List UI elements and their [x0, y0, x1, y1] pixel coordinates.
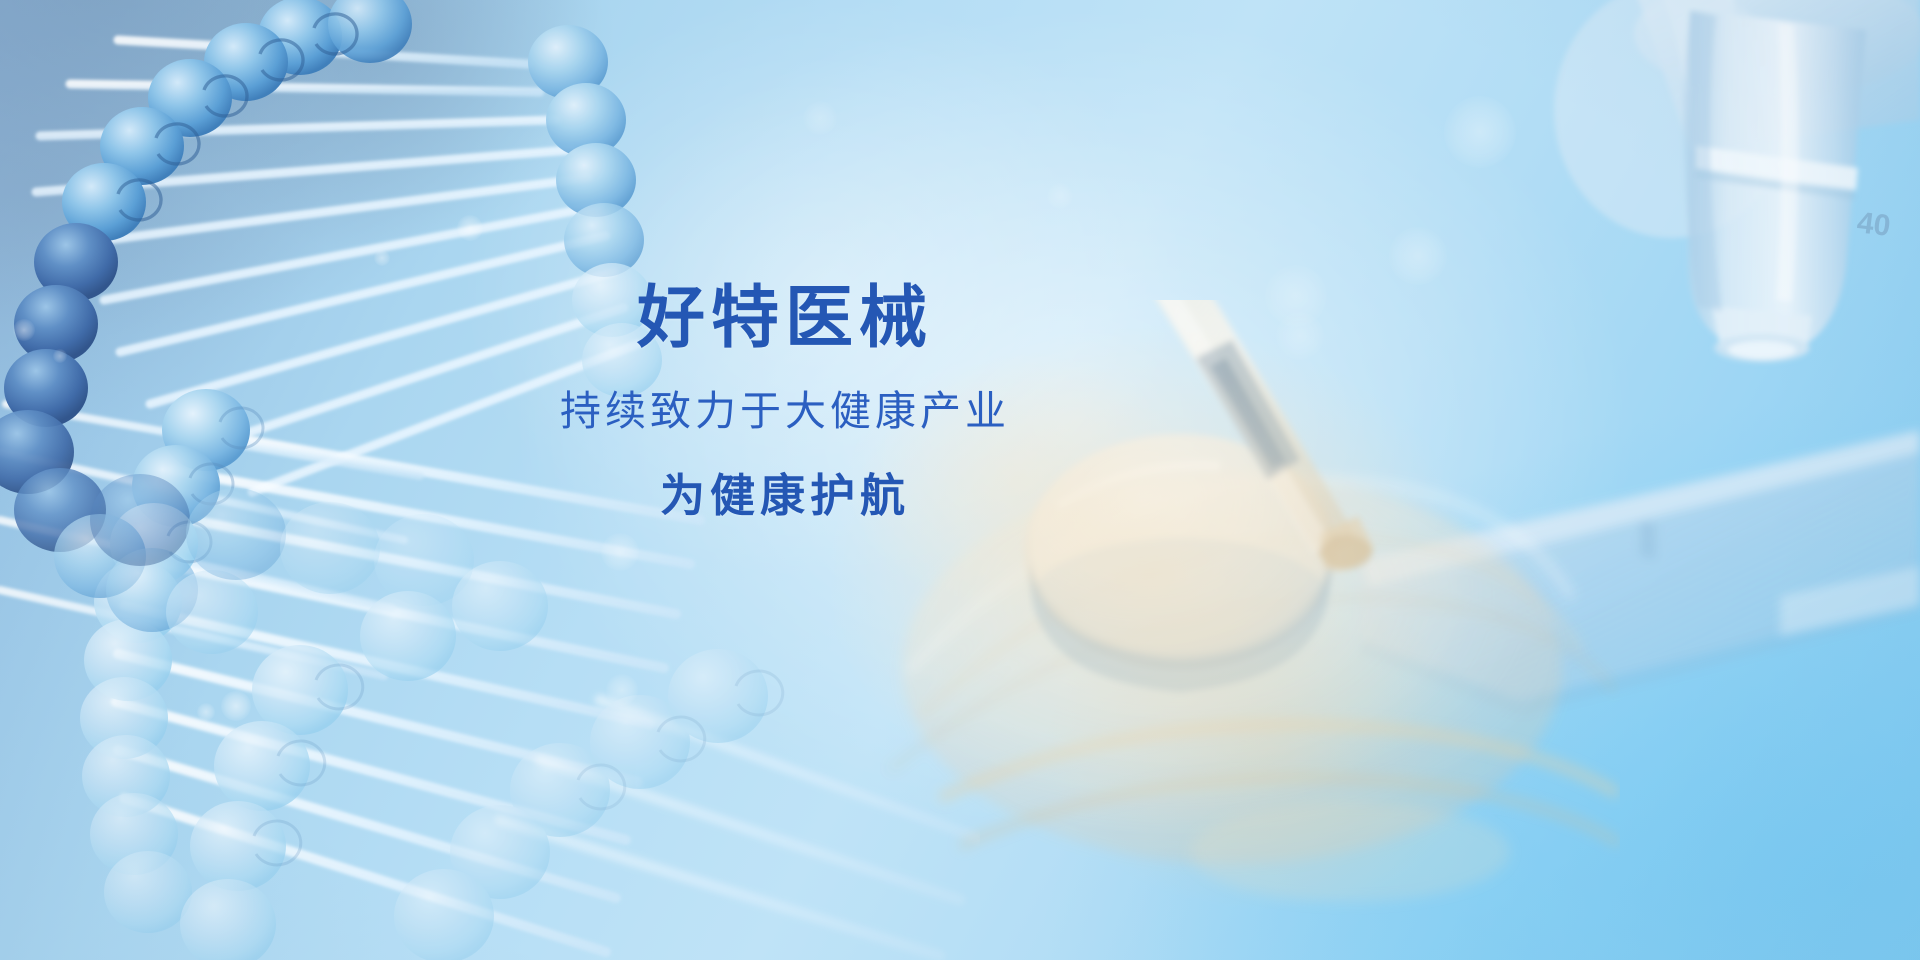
bokeh-speck — [374, 250, 390, 266]
bokeh-speck — [1444, 96, 1516, 168]
hero-tagline: 为健康护航 — [0, 471, 1570, 521]
bokeh-speck — [1389, 227, 1447, 285]
bokeh-speck — [601, 533, 639, 571]
bokeh-speck — [197, 703, 215, 721]
bokeh-speck — [606, 674, 638, 706]
bokeh-speck — [221, 691, 251, 721]
bokeh-speck — [1047, 183, 1073, 209]
microscope-magnification-label: 40 — [1855, 206, 1892, 243]
hero-subtitle: 持续致力于大健康产业 — [0, 389, 1570, 434]
page-title: 好特医械 — [0, 282, 1570, 355]
hero-banner: 40 — [0, 0, 1920, 960]
bokeh-speck — [803, 101, 837, 135]
hero-text-block: 好特医械 持续致力于大健康产业 为健康护航 — [0, 282, 1570, 520]
bokeh-speck — [457, 215, 483, 241]
